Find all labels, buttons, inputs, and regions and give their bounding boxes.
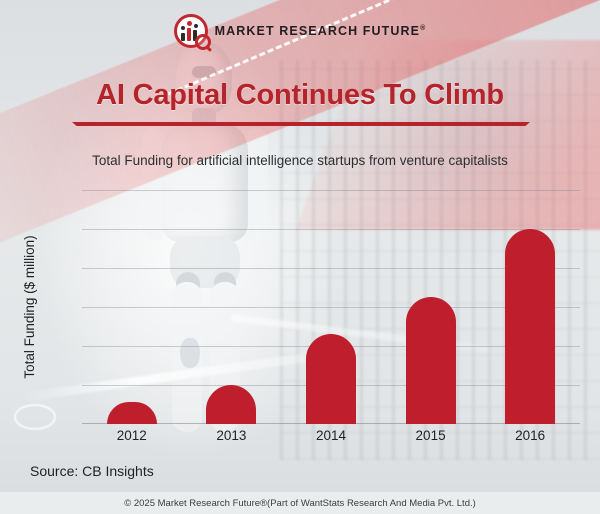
logo-dot-center bbox=[187, 21, 192, 26]
bar-2016[interactable] bbox=[505, 229, 555, 424]
bar-slot bbox=[184, 190, 279, 424]
copyright-bar: © 2025 Market Research Future®(Part of W… bbox=[0, 492, 600, 514]
copyright-text: © 2025 Market Research Future®(Part of W… bbox=[124, 498, 476, 509]
brand-logo: MARKET RESEARCH FUTURE® bbox=[0, 14, 600, 48]
bar-slot bbox=[483, 190, 578, 424]
x-axis-tick-label-2013: 2013 bbox=[184, 428, 279, 443]
bar-slot bbox=[84, 190, 179, 424]
bar-slot bbox=[383, 190, 478, 424]
x-axis-tick-label-2014: 2014 bbox=[284, 428, 379, 443]
bar-2014[interactable] bbox=[306, 334, 356, 424]
brand-name-text: MARKET RESEARCH FUTURE bbox=[215, 24, 420, 38]
page-subtitle: Total Funding for artificial intelligenc… bbox=[0, 153, 600, 168]
bar-2015[interactable] bbox=[406, 297, 456, 424]
chart-plot-area: 0100020003000400050006000 bbox=[82, 190, 580, 424]
x-axis-tick-label-2016: 2016 bbox=[483, 428, 578, 443]
bar-slot bbox=[284, 190, 379, 424]
registered-trademark-mark: ® bbox=[420, 25, 426, 32]
logo-bar-2 bbox=[187, 28, 191, 41]
x-axis-tick-label-2012: 2012 bbox=[84, 428, 179, 443]
y-axis-title: Total Funding ($ million) bbox=[18, 192, 40, 422]
market-research-future-logo-icon bbox=[174, 14, 208, 48]
x-axis-tick-label-2015: 2015 bbox=[383, 428, 478, 443]
infographic-canvas: MARKET RESEARCH FUTURE® AI Capital Conti… bbox=[0, 0, 600, 514]
x-axis-tick-labels: 20122013201420152016 bbox=[82, 428, 580, 443]
logo-bar-group bbox=[181, 28, 197, 41]
page-title: AI Capital Continues To Climb bbox=[0, 79, 600, 112]
bar-2013[interactable] bbox=[206, 385, 256, 424]
brand-name: MARKET RESEARCH FUTURE® bbox=[215, 24, 427, 38]
source-note: Source: CB Insights bbox=[30, 463, 154, 479]
bar-2012[interactable] bbox=[107, 402, 157, 424]
title-underline-rule bbox=[72, 122, 530, 126]
logo-bar-1 bbox=[181, 33, 185, 41]
magnifying-glass-icon bbox=[195, 34, 211, 50]
bar-series bbox=[82, 190, 580, 424]
